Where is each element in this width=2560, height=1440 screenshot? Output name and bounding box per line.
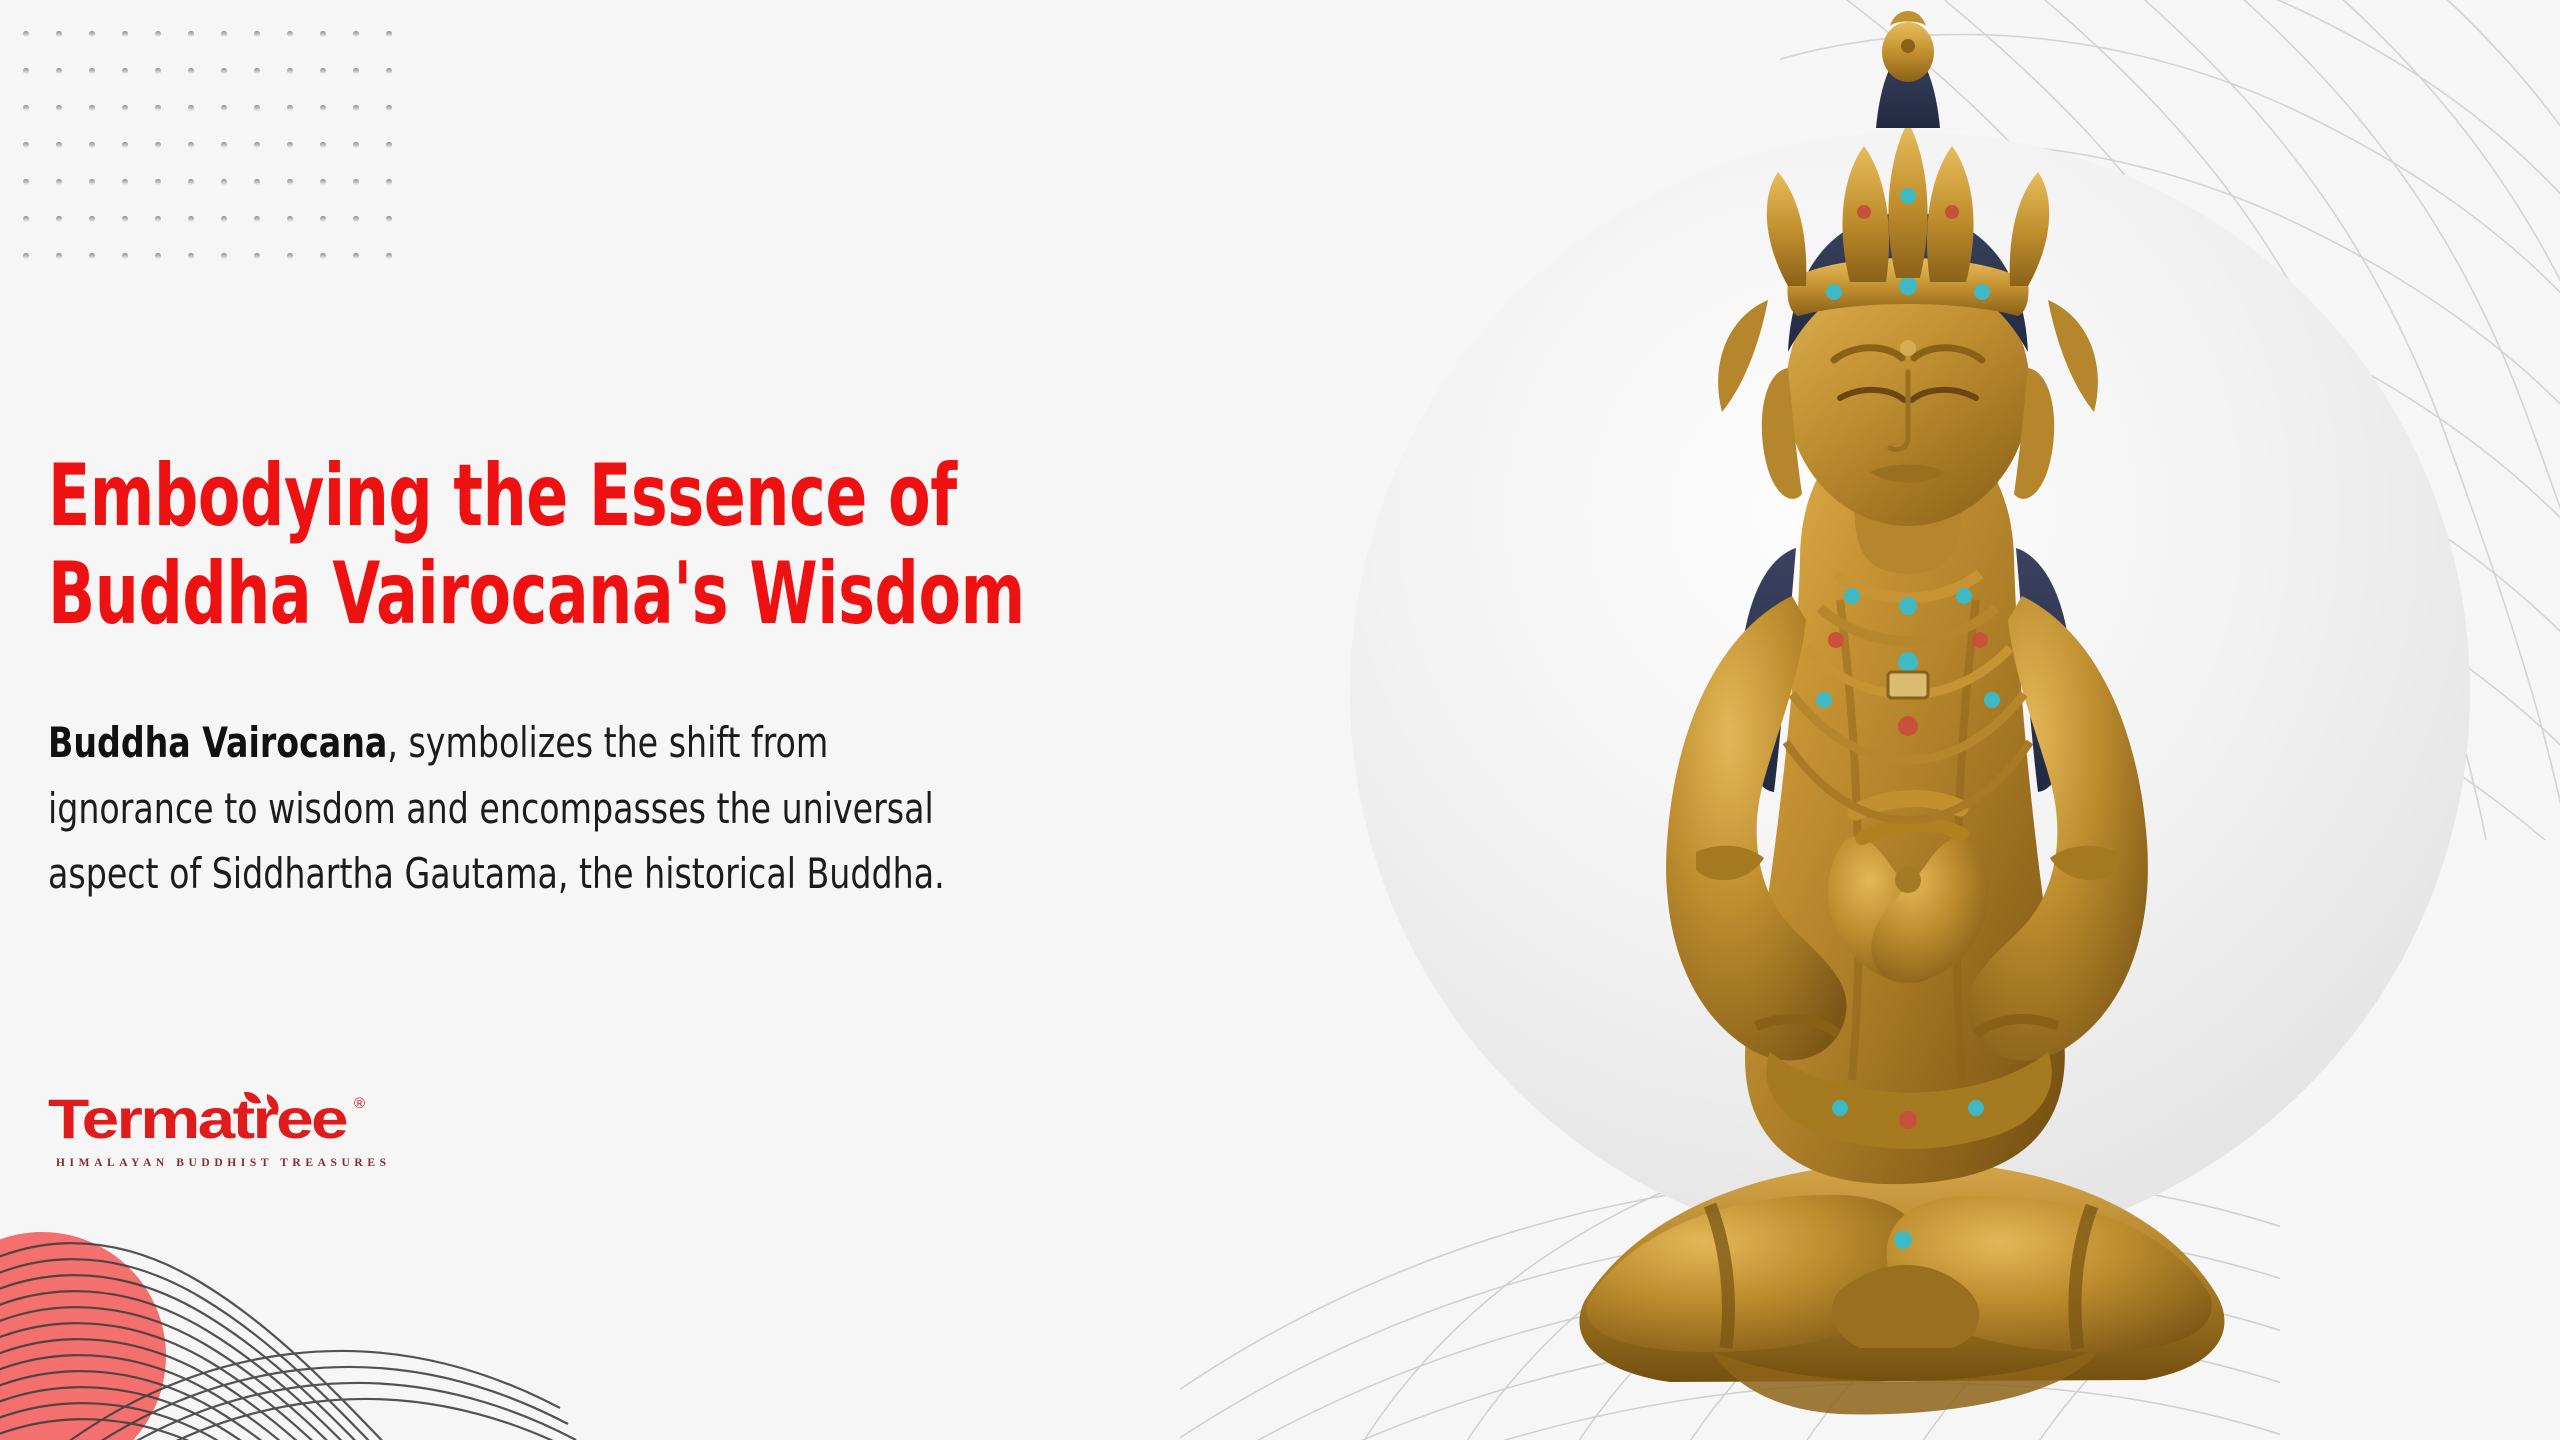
logo-tagline: HIMALAYAN BUDDHIST TREASURES [56, 1157, 468, 1169]
buddha-vairocana-statue [1240, 0, 2560, 1440]
description-lead: Buddha Vairocana [48, 718, 387, 767]
svg-text:Termatree: Termatree [48, 1088, 347, 1150]
termatree-wordmark[interactable]: Termatree ® [48, 1088, 398, 1150]
text-column: Embodying the Essence of Buddha Vairocan… [48, 0, 1348, 1440]
promo-banner: Embodying the Essence of Buddha Vairocan… [0, 0, 2560, 1440]
description-paragraph: Buddha Vairocana, symbolizes the shift f… [48, 710, 954, 907]
svg-text:®: ® [354, 1095, 365, 1112]
statue-panel [1240, 0, 2560, 1440]
lotus-base [1579, 1162, 2224, 1415]
page-title: Embodying the Essence of Buddha Vairocan… [48, 447, 1048, 643]
brand-logo[interactable]: Termatree ® HIMALAYAN BUDDHIST TREASURES [48, 1088, 468, 1169]
